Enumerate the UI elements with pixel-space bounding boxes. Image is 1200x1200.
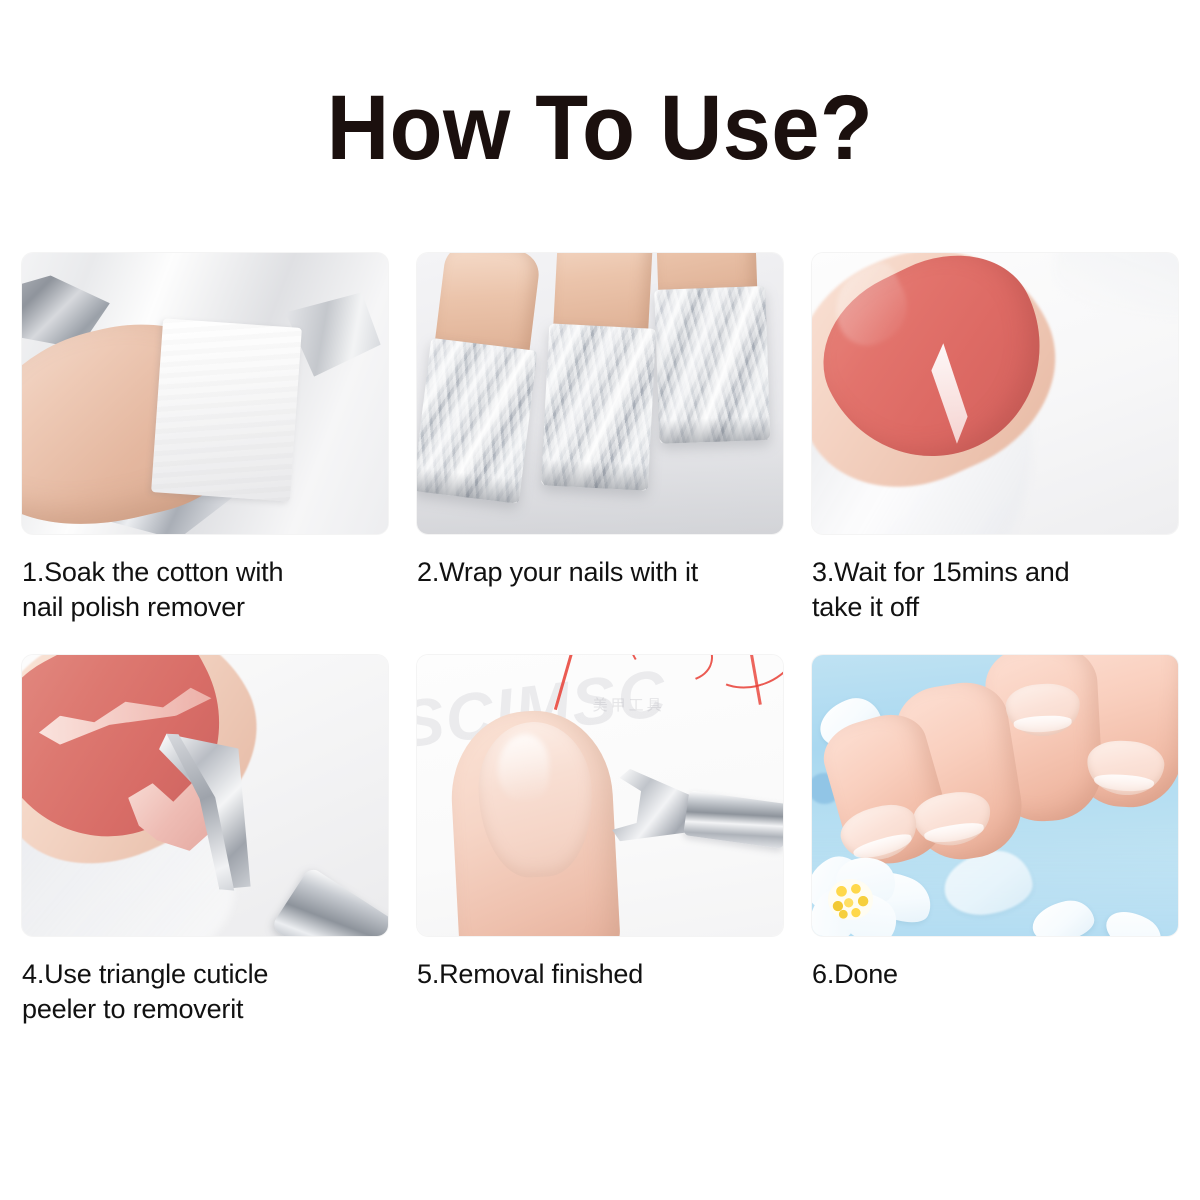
peeler-handle-shape [682, 790, 783, 849]
how-to-use-infographic: How To Use? 1.Soak the cotton with nail … [0, 0, 1200, 1200]
step-card-5: SCIMSC 美甲工具 5.Removal finished [417, 655, 783, 1027]
watermark-subtext: 美甲工具 [593, 694, 776, 750]
wrapped-finger-shape [654, 253, 761, 434]
white-cloth-shape [1054, 253, 1178, 315]
cotton-pad-shape [151, 319, 302, 502]
step-6-caption: 6.Done [812, 957, 1178, 992]
step-5-caption: 5.Removal finished [417, 957, 783, 992]
step-1-image [22, 253, 388, 534]
step-3-caption: 3.Wait for 15mins and take it off [812, 555, 1178, 625]
steps-grid: 1.Soak the cotton with nail polish remov… [22, 253, 1178, 1027]
step-card-6: 6.Done [812, 655, 1178, 1027]
step-6-image [812, 655, 1178, 936]
step-4-caption: 4.Use triangle cuticle peeler to remover… [22, 957, 388, 1027]
wrapped-finger-shape [546, 253, 654, 480]
step-3-image [812, 253, 1178, 534]
step-1-caption: 1.Soak the cotton with nail polish remov… [22, 555, 388, 625]
step-2-caption: 2.Wrap your nails with it [417, 555, 783, 590]
step-5-image: SCIMSC 美甲工具 [417, 655, 783, 936]
peeler-loop-shape [610, 767, 697, 850]
triangle-cuticle-peeler-icon [610, 767, 783, 863]
step-card-4: 4.Use triangle cuticle peeler to remover… [22, 655, 388, 1027]
peeler-handle-shape [271, 866, 388, 936]
foil-wrap-shape [417, 338, 537, 504]
step-4-image [22, 655, 388, 936]
white-flower-icon [812, 857, 900, 936]
foil-wrap-shape [654, 286, 770, 444]
step-card-2: 2.Wrap your nails with it [417, 253, 783, 625]
step-card-1: 1.Soak the cotton with nail polish remov… [22, 253, 388, 625]
nail-gloss-shape [498, 734, 549, 801]
wrapped-finger-shape [417, 253, 541, 494]
flower-center-shape [828, 879, 874, 919]
foil-wrap-shape [542, 323, 657, 490]
step-2-image [417, 253, 783, 534]
step-card-3: 3.Wait for 15mins and take it off [812, 253, 1178, 625]
page-title: How To Use? [36, 78, 1164, 178]
